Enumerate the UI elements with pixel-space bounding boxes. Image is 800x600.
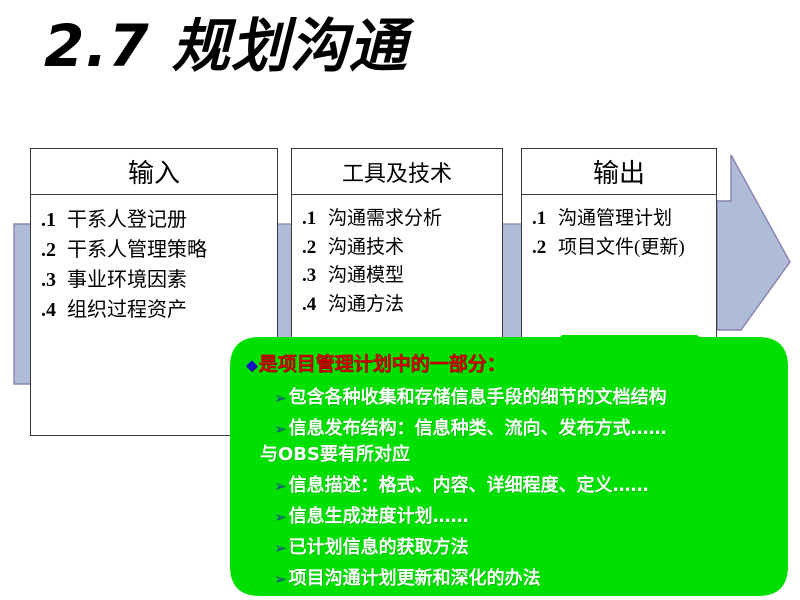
callout-item-text: 包含各种收集和存储信息手段的细节的文档结构 bbox=[289, 387, 667, 408]
process-box-output-header: 输出 bbox=[522, 149, 716, 195]
process-box-tools-items: .1沟通需求分析 .2沟通技术 .3沟通模型 .4沟通方法 bbox=[292, 195, 502, 319]
callout-list-item: ➢项目沟通计划更新和深化的办法 bbox=[274, 564, 780, 590]
slide-canvas: 2.7规划沟通 输入 .1干系人登记册 .2干系人管理策略 .3事业环境因素 .… bbox=[0, 0, 800, 600]
process-box-output-items: .1沟通管理计划 .2项目文件(更新) bbox=[522, 195, 716, 262]
list-item: .2沟通技术 bbox=[302, 234, 502, 263]
list-item: .1干系人登记册 bbox=[41, 205, 277, 235]
list-item: .2项目文件(更新) bbox=[532, 234, 716, 263]
process-box-input-header: 输入 bbox=[31, 149, 277, 195]
callout-heading-text: 是项目管理计划中的一部分： bbox=[259, 353, 506, 375]
item-label: 沟通管理计划 bbox=[558, 208, 672, 229]
item-label: 干系人登记册 bbox=[67, 209, 187, 231]
item-index: .2 bbox=[41, 235, 67, 265]
process-box-input-items: .1干系人登记册 .2干系人管理策略 .3事业环境因素 .4组织过程资产 bbox=[31, 195, 277, 325]
arrow-bullet-icon: ➢ bbox=[274, 389, 287, 407]
item-label: 项目文件(更新) bbox=[558, 237, 685, 258]
list-item: .1沟通管理计划 bbox=[532, 205, 716, 234]
arrow-bullet-icon: ➢ bbox=[274, 508, 287, 526]
arrow-bullet-icon: ➢ bbox=[274, 477, 287, 495]
callout-item-text: 信息生成进度计划…… bbox=[289, 506, 469, 527]
green-callout: ◆是项目管理计划中的一部分： ➢包含各种收集和存储信息手段的细节的文档结构 ➢信… bbox=[228, 335, 790, 598]
list-item: .4沟通方法 bbox=[302, 291, 502, 320]
arrow-bullet-icon: ➢ bbox=[274, 539, 287, 557]
item-index: .4 bbox=[302, 291, 328, 320]
item-label: 沟通需求分析 bbox=[328, 208, 442, 229]
arrow-bullet-icon: ➢ bbox=[274, 420, 287, 438]
callout-list-item: ➢信息发布结构：信息种类、流向、发布方式…… 与OBS要有所对应 bbox=[274, 414, 780, 466]
item-label: 沟通技术 bbox=[328, 237, 404, 258]
arrow-bullet-icon: ➢ bbox=[274, 570, 287, 588]
callout-item-text: 项目沟通计划更新和深化的办法 bbox=[289, 568, 541, 589]
callout-heading: ◆是项目管理计划中的一部分： bbox=[246, 349, 780, 376]
item-index: .4 bbox=[41, 295, 67, 325]
list-item: .3事业环境因素 bbox=[41, 265, 277, 295]
item-label: 沟通方法 bbox=[328, 294, 404, 315]
callout-item-text: 信息发布结构：信息种类、流向、发布方式…… bbox=[289, 418, 667, 439]
process-box-tools-header: 工具及技术 bbox=[292, 149, 502, 195]
item-index: .1 bbox=[532, 205, 558, 234]
callout-item-continuation: 与OBS要有所对应 bbox=[260, 440, 780, 466]
item-index: .2 bbox=[532, 234, 558, 263]
list-item: .1沟通需求分析 bbox=[302, 205, 502, 234]
item-index: .3 bbox=[302, 262, 328, 291]
diamond-bullet-icon: ◆ bbox=[246, 356, 258, 374]
callout-content: ◆是项目管理计划中的一部分： ➢包含各种收集和存储信息手段的细节的文档结构 ➢信… bbox=[228, 335, 790, 598]
item-index: .1 bbox=[41, 205, 67, 235]
callout-list-item: ➢信息描述：格式、内容、详细程度、定义…… bbox=[274, 471, 780, 497]
list-item: .2干系人管理策略 bbox=[41, 235, 277, 265]
item-label: 事业环境因素 bbox=[67, 269, 187, 291]
callout-list-item: ➢已计划信息的获取方法 bbox=[274, 533, 780, 559]
list-item: .4组织过程资产 bbox=[41, 295, 277, 325]
item-index: .2 bbox=[302, 234, 328, 263]
item-label: 沟通模型 bbox=[328, 265, 404, 286]
callout-list-item: ➢信息生成进度计划…… bbox=[274, 502, 780, 528]
list-item: .3沟通模型 bbox=[302, 262, 502, 291]
callout-item-text: 已计划信息的获取方法 bbox=[289, 537, 469, 558]
item-label: 组织过程资产 bbox=[67, 299, 187, 321]
item-index: .1 bbox=[302, 205, 328, 234]
item-label: 干系人管理策略 bbox=[67, 239, 207, 261]
callout-list-item: ➢包含各种收集和存储信息手段的细节的文档结构 bbox=[274, 383, 780, 409]
item-index: .3 bbox=[41, 265, 67, 295]
callout-item-text: 信息描述：格式、内容、详细程度、定义…… bbox=[289, 475, 649, 496]
